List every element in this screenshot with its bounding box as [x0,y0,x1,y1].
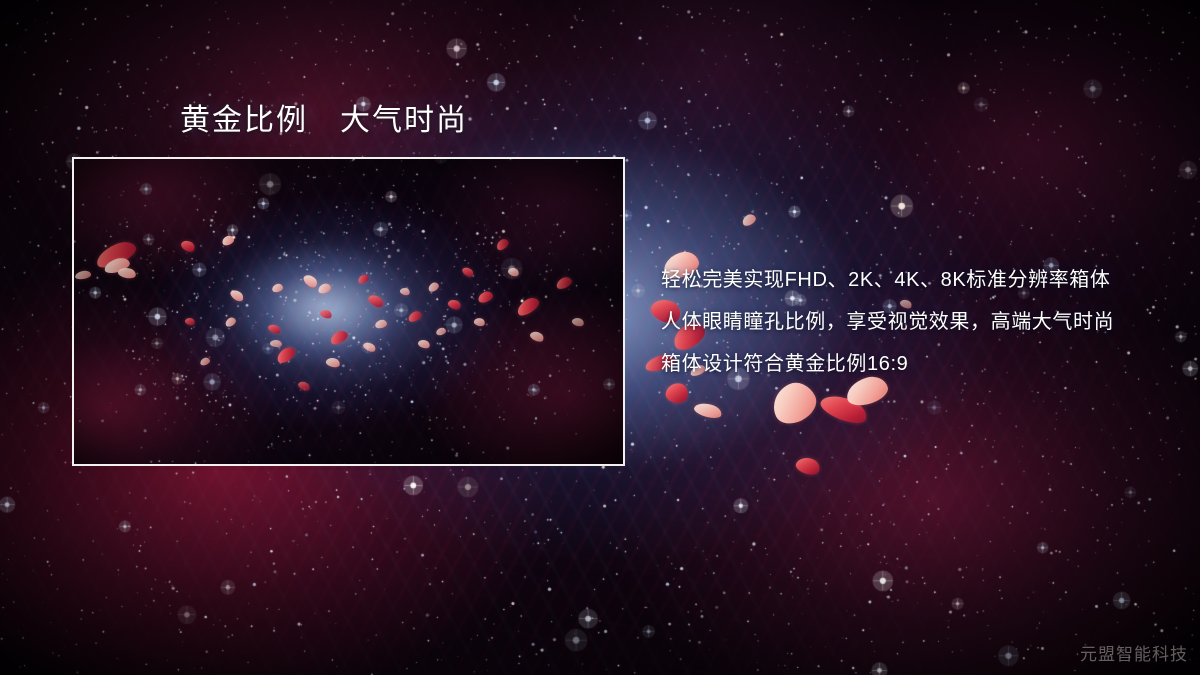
presentation-slide: 黄金比例 大气时尚 轻松完美实现FHD、2K、4K、8K标准分辨率箱体 人体眼睛… [0,0,1200,675]
body-line-2: 人体眼睛瞳孔比例，享受视觉效果，高端大气时尚 [661,301,1181,343]
company-watermark: 元盟智能科技 [1080,640,1188,665]
body-line-3: 箱体设计符合黄金比例16:9 [661,343,1181,385]
galaxy-image-frame [72,157,625,466]
slide-body-text: 轻松完美实现FHD、2K、4K、8K标准分辨率箱体 人体眼睛瞳孔比例，享受视觉效… [661,259,1181,385]
panel-vignette [74,159,623,464]
slide-title: 黄金比例 大气时尚 [180,102,468,140]
body-line-1: 轻松完美实现FHD、2K、4K、8K标准分辨率箱体 [661,259,1181,301]
